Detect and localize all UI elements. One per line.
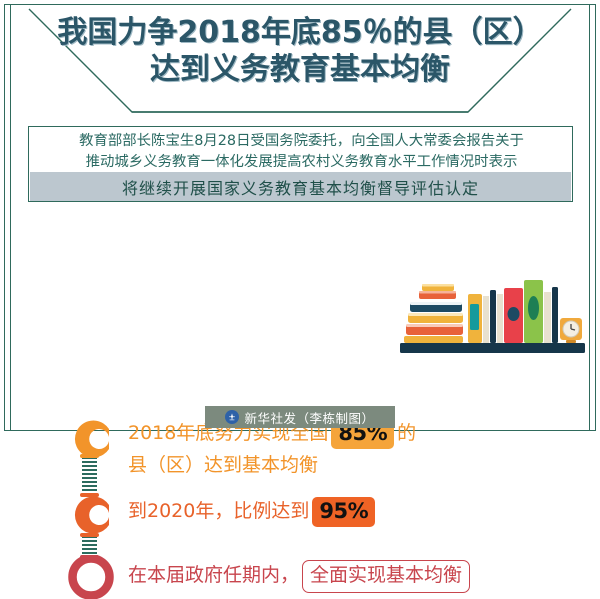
connector-stripe-1 (82, 457, 97, 493)
shelf-board (400, 343, 585, 353)
ring-c-open-icon (66, 493, 116, 537)
lead-line-1: 教育部部长陈宝生8月28日受国务院委托，向全国人大常委会报告关于 (29, 131, 574, 152)
bullet-1-text: 2018年底努力实现全国85%的 县（区）达到基本均衡 (128, 419, 416, 479)
footer-credit-bar: 新华社发（李栋制图） (205, 406, 395, 428)
title-line-2: 达到义务教育基本均衡 (0, 51, 600, 88)
ring-o-closed-icon (66, 555, 116, 599)
books-on-shelf-illustration (400, 272, 585, 360)
infographic-canvas: 我国力争2018年底85％的县（区） 达到义务教育基本均衡 教育部部长陈宝生8月… (0, 0, 600, 435)
bullet-3-boxed-text: 全面实现基本均衡 (302, 560, 470, 593)
stacked-books-small (419, 284, 456, 299)
bullet-1-line1-after: 的 (397, 422, 416, 444)
summary-bar: 将继续开展国家义务教育基本均衡督导评估认定 (30, 172, 571, 201)
title-line-1: 我国力争2018年底85％的县（区） (0, 14, 600, 51)
bullet-1-line2: 县（区）达到基本均衡 (128, 452, 416, 479)
ring-c-open-icon (66, 417, 116, 461)
bullet-2-text: 到2020年，比例达到95% (128, 497, 378, 527)
lead-paragraph: 教育部部长陈宝生8月28日受国务院委托，向全国人大常委会报告关于 推动城乡义务教… (29, 131, 574, 173)
stacked-books-large (404, 302, 463, 343)
standing-books (468, 280, 558, 343)
summary-bar-label: 将继续开展国家义务教育基本均衡督导评估认定 (122, 175, 479, 199)
lead-paragraph-box: 教育部部长陈宝生8月28日受国务院委托，向全国人大常委会报告关于 推动城乡义务教… (28, 126, 573, 202)
page-title: 我国力争2018年底85％的县（区） 达到义务教育基本均衡 (0, 14, 600, 88)
footer-credit-text: 新华社发（李栋制图） (244, 408, 374, 427)
bullet-3-text: 在本届政府任期内，全面实现基本均衡 (128, 560, 470, 593)
lead-line-2: 推动城乡义务教育一体化发展提高农村义务教育水平工作情况时表示 (29, 152, 574, 173)
bullet-3-line1-before: 在本届政府任期内， (128, 564, 299, 586)
desk-clock-icon (560, 318, 582, 343)
bullet-2-line1-before: 到2020年，比例达到 (128, 500, 309, 522)
title-banner: 我国力争2018年底85％的县（区） 达到义务教育基本均衡 (0, 0, 600, 122)
xinhua-logo-icon (225, 410, 239, 424)
bullet-2-highlight-95: 95% (312, 497, 375, 527)
connector-stripe-2 (82, 536, 97, 556)
